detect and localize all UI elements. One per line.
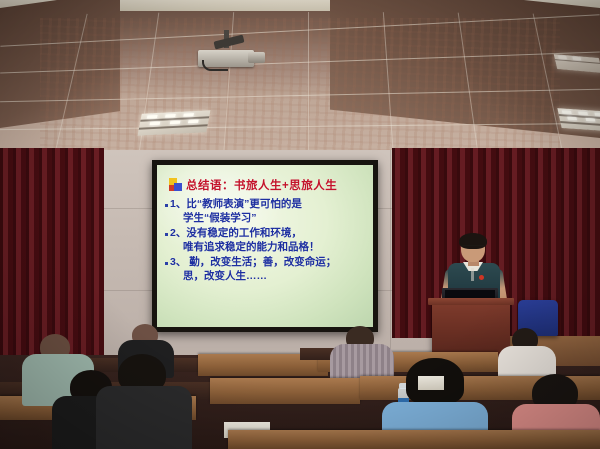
projector-lens <box>248 52 265 63</box>
desk-foreground <box>228 430 600 449</box>
ceiling <box>0 0 600 160</box>
bullet-marker-icon <box>165 204 168 207</box>
bullet-2-line-2: 唯有追求稳定的能力和品格！ <box>170 241 320 255</box>
ceiling-projector <box>198 44 266 68</box>
ceiling-tile-grid <box>0 0 600 160</box>
desk-mid-center <box>210 378 360 404</box>
audience-area <box>0 330 600 449</box>
projection-screen-frame: 总结语：书旅人生+思旅人生 1、比“教师表演”更可怕的是 学生“假装学习” 2 <box>152 160 378 332</box>
projector-cable <box>202 60 228 71</box>
presentation-slide: 总结语：书旅人生+思旅人生 1、比“教师表演”更可怕的是 学生“假装学习” 2 <box>157 165 373 327</box>
slide-bullet-3: 3、 勤，改变生活；善，改变命运； 思，改变人生…… <box>165 256 367 283</box>
attendee-4-body <box>96 386 192 449</box>
lecture-hall-photo: 总结语：书旅人生+思旅人生 1、比“教师表演”更可怕的是 学生“假装学习” 2 <box>0 0 600 449</box>
powerpoint-deco-icon <box>169 178 183 192</box>
bullet-1-text: 1、比“教师表演”更可怕的是 学生“假装学习” <box>170 198 302 225</box>
bullet-3-line-2: 思，改变人生…… <box>170 270 336 284</box>
bullet-1-line-1: 1、比“教师表演”更可怕的是 <box>170 198 302 212</box>
podium-top <box>428 298 514 305</box>
bullet-2-text: 2、没有稳定的工作和环境， 唯有追求稳定的能力和品格！ <box>170 227 320 254</box>
paper-sheet <box>418 376 444 390</box>
presenter-placket <box>471 268 474 281</box>
attendee-4 <box>96 354 192 449</box>
bullet-3-line-1: 3、 勤，改变生活；善，改变命运； <box>170 256 336 270</box>
slide-bullet-list: 1、比“教师表演”更可怕的是 学生“假装学习” 2、没有稳定的工作和环境， 唯有… <box>163 198 367 283</box>
bullet-2-line-1: 2、没有稳定的工作和环境， <box>170 227 320 241</box>
slide-bullet-2: 2、没有稳定的工作和环境， 唯有追求稳定的能力和品格！ <box>165 227 367 254</box>
ceiling-light-left <box>137 110 210 136</box>
slide-bullet-1: 1、比“教师表演”更可怕的是 学生“假装学习” <box>165 198 367 225</box>
slide-title-row: 总结语：书旅人生+思旅人生 <box>169 177 367 193</box>
slide-title: 总结语：书旅人生+思旅人生 <box>186 177 337 193</box>
glasses-icon <box>462 245 484 250</box>
presenter-badge <box>479 275 484 280</box>
projection-screen: 总结语：书旅人生+思旅人生 1、比“教师表演”更可怕的是 学生“假装学习” 2 <box>157 165 373 327</box>
bullet-marker-icon <box>165 233 168 236</box>
bullet-1-line-2: 学生“假装学习” <box>170 212 302 226</box>
bullet-3-text: 3、 勤，改变生活；善，改变命运； 思，改变人生…… <box>170 256 336 283</box>
bullet-marker-icon <box>165 262 168 265</box>
